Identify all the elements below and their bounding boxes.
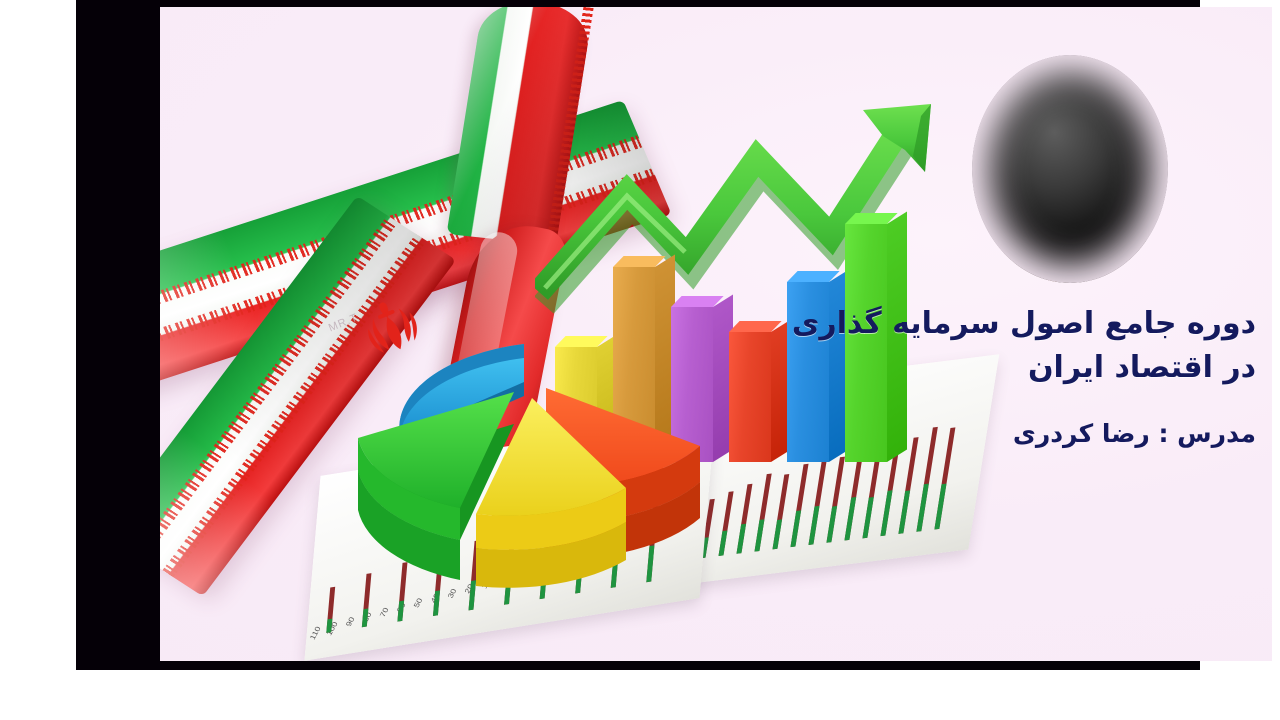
paper-bar-lower xyxy=(934,484,946,530)
paper-bar-lower xyxy=(844,497,856,541)
paper-bar-lower xyxy=(808,506,819,545)
paper-bar-lower xyxy=(862,497,873,538)
paper-bar-lower xyxy=(826,506,837,543)
portrait-vignette xyxy=(972,55,1168,283)
instructor-label: مدرس : رضا کردری xyxy=(826,419,1256,448)
paper-bar-lower xyxy=(772,519,782,549)
poster-canvas: MR.T xyxy=(160,7,1272,661)
instructor-portrait xyxy=(972,55,1168,283)
pie-chart-svg xyxy=(310,332,740,632)
poster-stage: MR.T xyxy=(0,0,1280,720)
pie-chart-3d xyxy=(310,332,740,632)
paper-bar-lower xyxy=(898,490,910,534)
poster-frame: MR.T xyxy=(76,0,1200,670)
paper-bar-lower xyxy=(790,510,801,547)
course-title-line-1: دوره جامع اصول سرمایه گذاری xyxy=(826,302,1256,346)
paper-bar-lower xyxy=(754,519,764,551)
course-title-line-2: در اقتصاد ایران xyxy=(826,346,1256,390)
paper-bar-lower xyxy=(916,484,928,532)
poster-text-block: دوره جامع اصول سرمایه گذاری در اقتصاد ای… xyxy=(826,302,1256,448)
paper-bar-lower xyxy=(880,490,892,536)
